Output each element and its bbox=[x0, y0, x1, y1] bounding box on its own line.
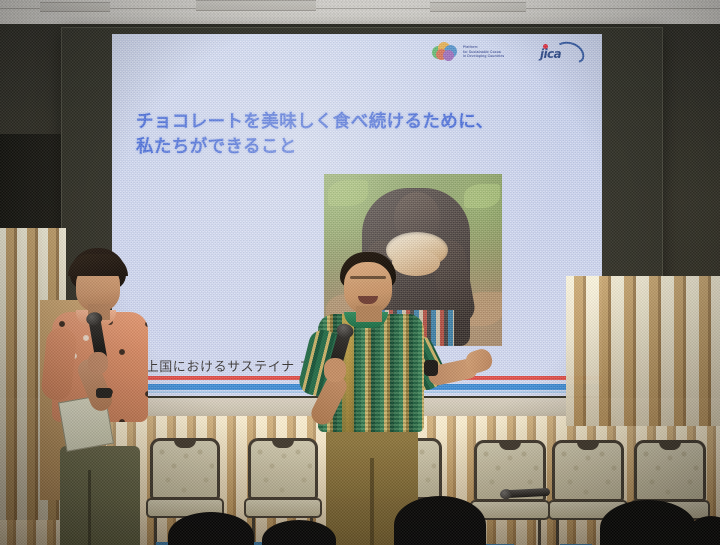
jica-logo: jica bbox=[539, 42, 581, 62]
platform-logo-text: Platform for Sustainable Cocoa in Develo… bbox=[463, 45, 525, 58]
slide-title: チョコレートを美味しく食べ続けるために、 私たちができること bbox=[136, 110, 493, 160]
speaker-left bbox=[38, 248, 158, 545]
ceiling-vent bbox=[196, 0, 316, 11]
platform-cocoa-logo: Platform for Sustainable Cocoa in Develo… bbox=[432, 42, 525, 62]
slide-title-line1: チョコレートを美味しく食べ続けるために、 bbox=[136, 110, 493, 135]
audience-silhouette bbox=[394, 496, 486, 545]
ceiling-vent bbox=[430, 2, 526, 12]
slide-logo-row: Platform for Sustainable Cocoa in Develo… bbox=[432, 42, 581, 62]
ceiling-vent bbox=[40, 2, 110, 12]
jica-wordmark: jica bbox=[540, 47, 561, 61]
conference-photo: Platform for Sustainable Cocoa in Develo… bbox=[0, 0, 720, 545]
wristwatch-icon bbox=[424, 360, 438, 376]
slide-title-line2: 私たちができること bbox=[136, 135, 493, 160]
right-lit-wood-panel bbox=[566, 276, 720, 426]
speaker-left-pants bbox=[60, 446, 140, 545]
wristwatch-icon bbox=[96, 388, 112, 398]
cocoa-pods-icon bbox=[432, 42, 458, 62]
